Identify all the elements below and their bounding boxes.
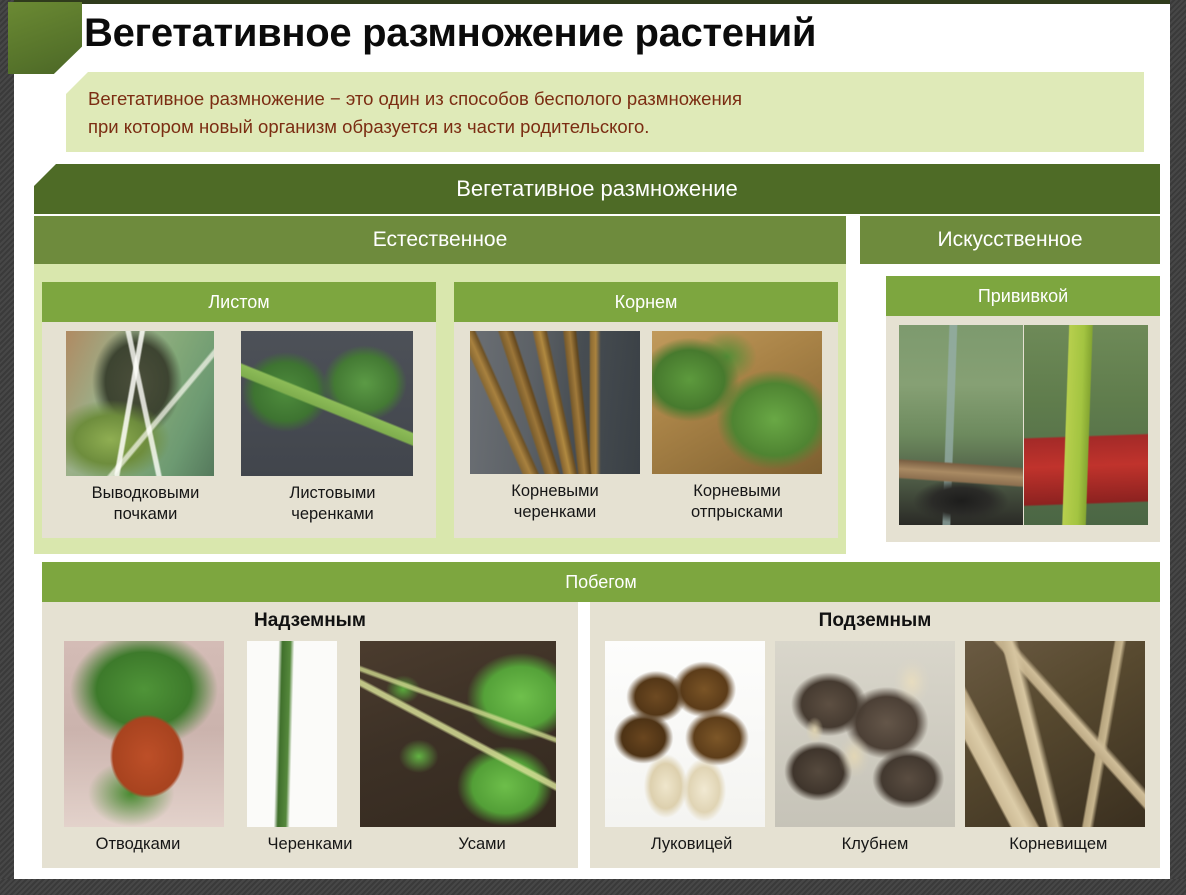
- caption-root-suckers: Корневыми отпрысками: [652, 481, 822, 523]
- root-cuttings-photo: [470, 331, 640, 474]
- frame-left-band: [0, 0, 14, 895]
- classification-diagram: Вегетативное размножение Естественное Ис…: [34, 164, 1160, 868]
- bulbs-photo: [605, 641, 765, 827]
- subtitle-above-ground: Надземным: [42, 602, 578, 632]
- diagram-root-node: Вегетативное размножение: [34, 164, 1160, 214]
- caption-runners: Усами: [397, 834, 567, 855]
- panel-by-grafting: [886, 316, 1160, 542]
- frame-right-band: [1170, 0, 1186, 895]
- strawberry-runners-photo: [360, 641, 556, 827]
- woody-cuttings-photo: [247, 641, 337, 827]
- node-by-shoot: Побегом: [42, 562, 1160, 602]
- root-suckers-photo: [652, 331, 822, 474]
- node-by-leaf: Листом: [42, 282, 436, 322]
- node-by-root: Корнем: [454, 282, 838, 322]
- node-by-grafting: Прививкой: [886, 276, 1160, 316]
- caption-root-cuttings: Корневыми черенками: [470, 481, 640, 523]
- page-title: Вегетативное размножение растений: [84, 4, 1144, 64]
- node-artificial: Искусственное: [860, 216, 1160, 264]
- caption-leaf-cutting: Листовыми черенками: [248, 483, 418, 525]
- panel-above-ground: Надземным Отводками Черенками Усами: [42, 602, 578, 868]
- spider-plant-layering-photo: [64, 641, 224, 827]
- caption-tuber: Клубнем: [790, 834, 960, 855]
- graft-union-closeup-photo: [1024, 325, 1148, 525]
- sprouting-tubers-photo: [775, 641, 955, 827]
- definition-line-2: при котором новый организм образуется из…: [88, 113, 1144, 141]
- slide-canvas: Вегетативное размножение растений Вегета…: [0, 0, 1186, 895]
- caption-layering: Отводками: [53, 834, 223, 855]
- subtitle-below-ground: Подземным: [590, 602, 1160, 632]
- panel-by-root: Корневыми черенками Корневыми отпрысками: [454, 322, 838, 538]
- caption-cuttings: Черенками: [225, 834, 395, 855]
- leaf-cutting-photo: [241, 331, 413, 476]
- node-natural: Естественное: [34, 216, 846, 264]
- definition-callout: Вегетативное размножение − это один из с…: [66, 72, 1144, 152]
- panel-by-leaf: Выводковыми почками Листовыми черенками: [42, 322, 436, 538]
- caption-bulb: Луковицей: [607, 834, 777, 855]
- grafted-sapling-photo: [899, 325, 1023, 525]
- title-decoration-tab: [8, 2, 82, 74]
- rhizomes-photo: [965, 641, 1145, 827]
- panel-below-ground: Подземным Луковицей Клубнем Корневищем: [590, 602, 1160, 868]
- brood-buds-on-leaf-photo: [66, 331, 214, 476]
- frame-bottom-band: [0, 879, 1186, 895]
- caption-brood-buds: Выводковыми почками: [61, 483, 231, 525]
- caption-rhizome: Корневищем: [973, 834, 1143, 855]
- definition-line-1: Вегетативное размножение − это один из с…: [88, 85, 1144, 113]
